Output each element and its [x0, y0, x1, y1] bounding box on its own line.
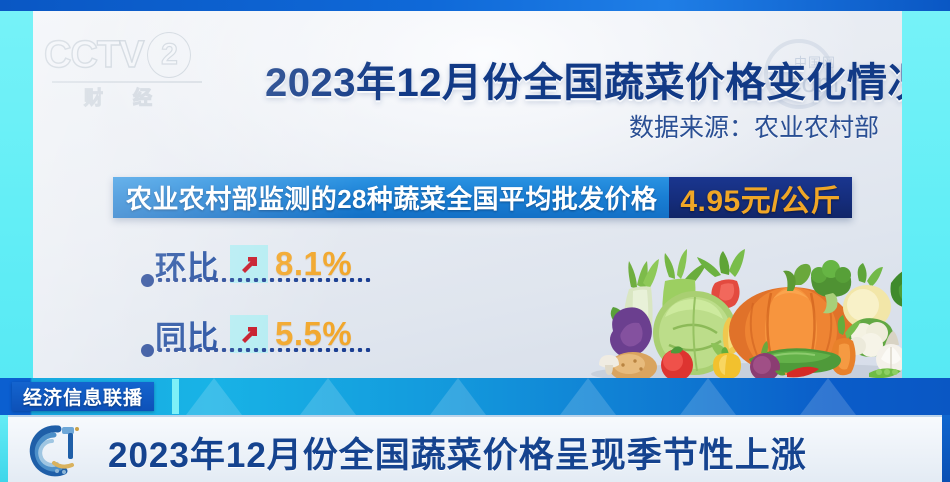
banner-price-value: 4.95元/公斤 [669, 177, 852, 218]
program-logo-icon [24, 419, 96, 479]
cctv-channel-number: 2 [147, 32, 191, 78]
stat-underline-mom [141, 274, 373, 286]
cctv-wordmark: CCTV [44, 34, 143, 77]
dotted-rule [156, 348, 373, 352]
cctv-logo-underline [52, 81, 202, 83]
vegetables-illustration [573, 247, 902, 378]
cctv-sub-left: 财 [84, 83, 103, 110]
news-strip-right-edge [942, 415, 950, 482]
right-cyan-band [902, 11, 950, 378]
page-title: 2023年12月份全国蔬菜价格变化情况 [265, 50, 902, 108]
news-strip-left-edge [0, 415, 8, 482]
broadcast-graphic-screen: CCTV 2 财 经 中国网 com 2023年12月份全国蔬菜价格变化情况 数… [0, 0, 950, 482]
stat-underline-yoy [141, 344, 373, 356]
main-stage: CCTV 2 财 经 中国网 com 2023年12月份全国蔬菜价格变化情况 数… [33, 11, 902, 378]
banner-description: 农业农村部监测的28种蔬菜全国平均批发价格 [113, 177, 669, 218]
data-source-label: 数据来源：农业农村部 [629, 108, 879, 144]
dotted-rule [156, 278, 373, 282]
left-cyan-band [0, 11, 33, 378]
news-headline: 2023年12月份全国蔬菜价格呈现季节性上涨 [108, 427, 807, 478]
average-price-banner: 农业农村部监测的28种蔬菜全国平均批发价格 4.95元/公斤 [113, 177, 852, 218]
bullet-dot-icon [141, 344, 154, 357]
badge-accent-tick [172, 379, 179, 414]
cctv2-channel-logo: CCTV 2 财 经 [38, 31, 218, 103]
bullet-dot-icon [141, 274, 154, 287]
cctv-sub-right: 经 [133, 83, 152, 110]
program-name-badge: 经济信息联播 [12, 382, 154, 411]
top-blue-strip [0, 0, 950, 11]
